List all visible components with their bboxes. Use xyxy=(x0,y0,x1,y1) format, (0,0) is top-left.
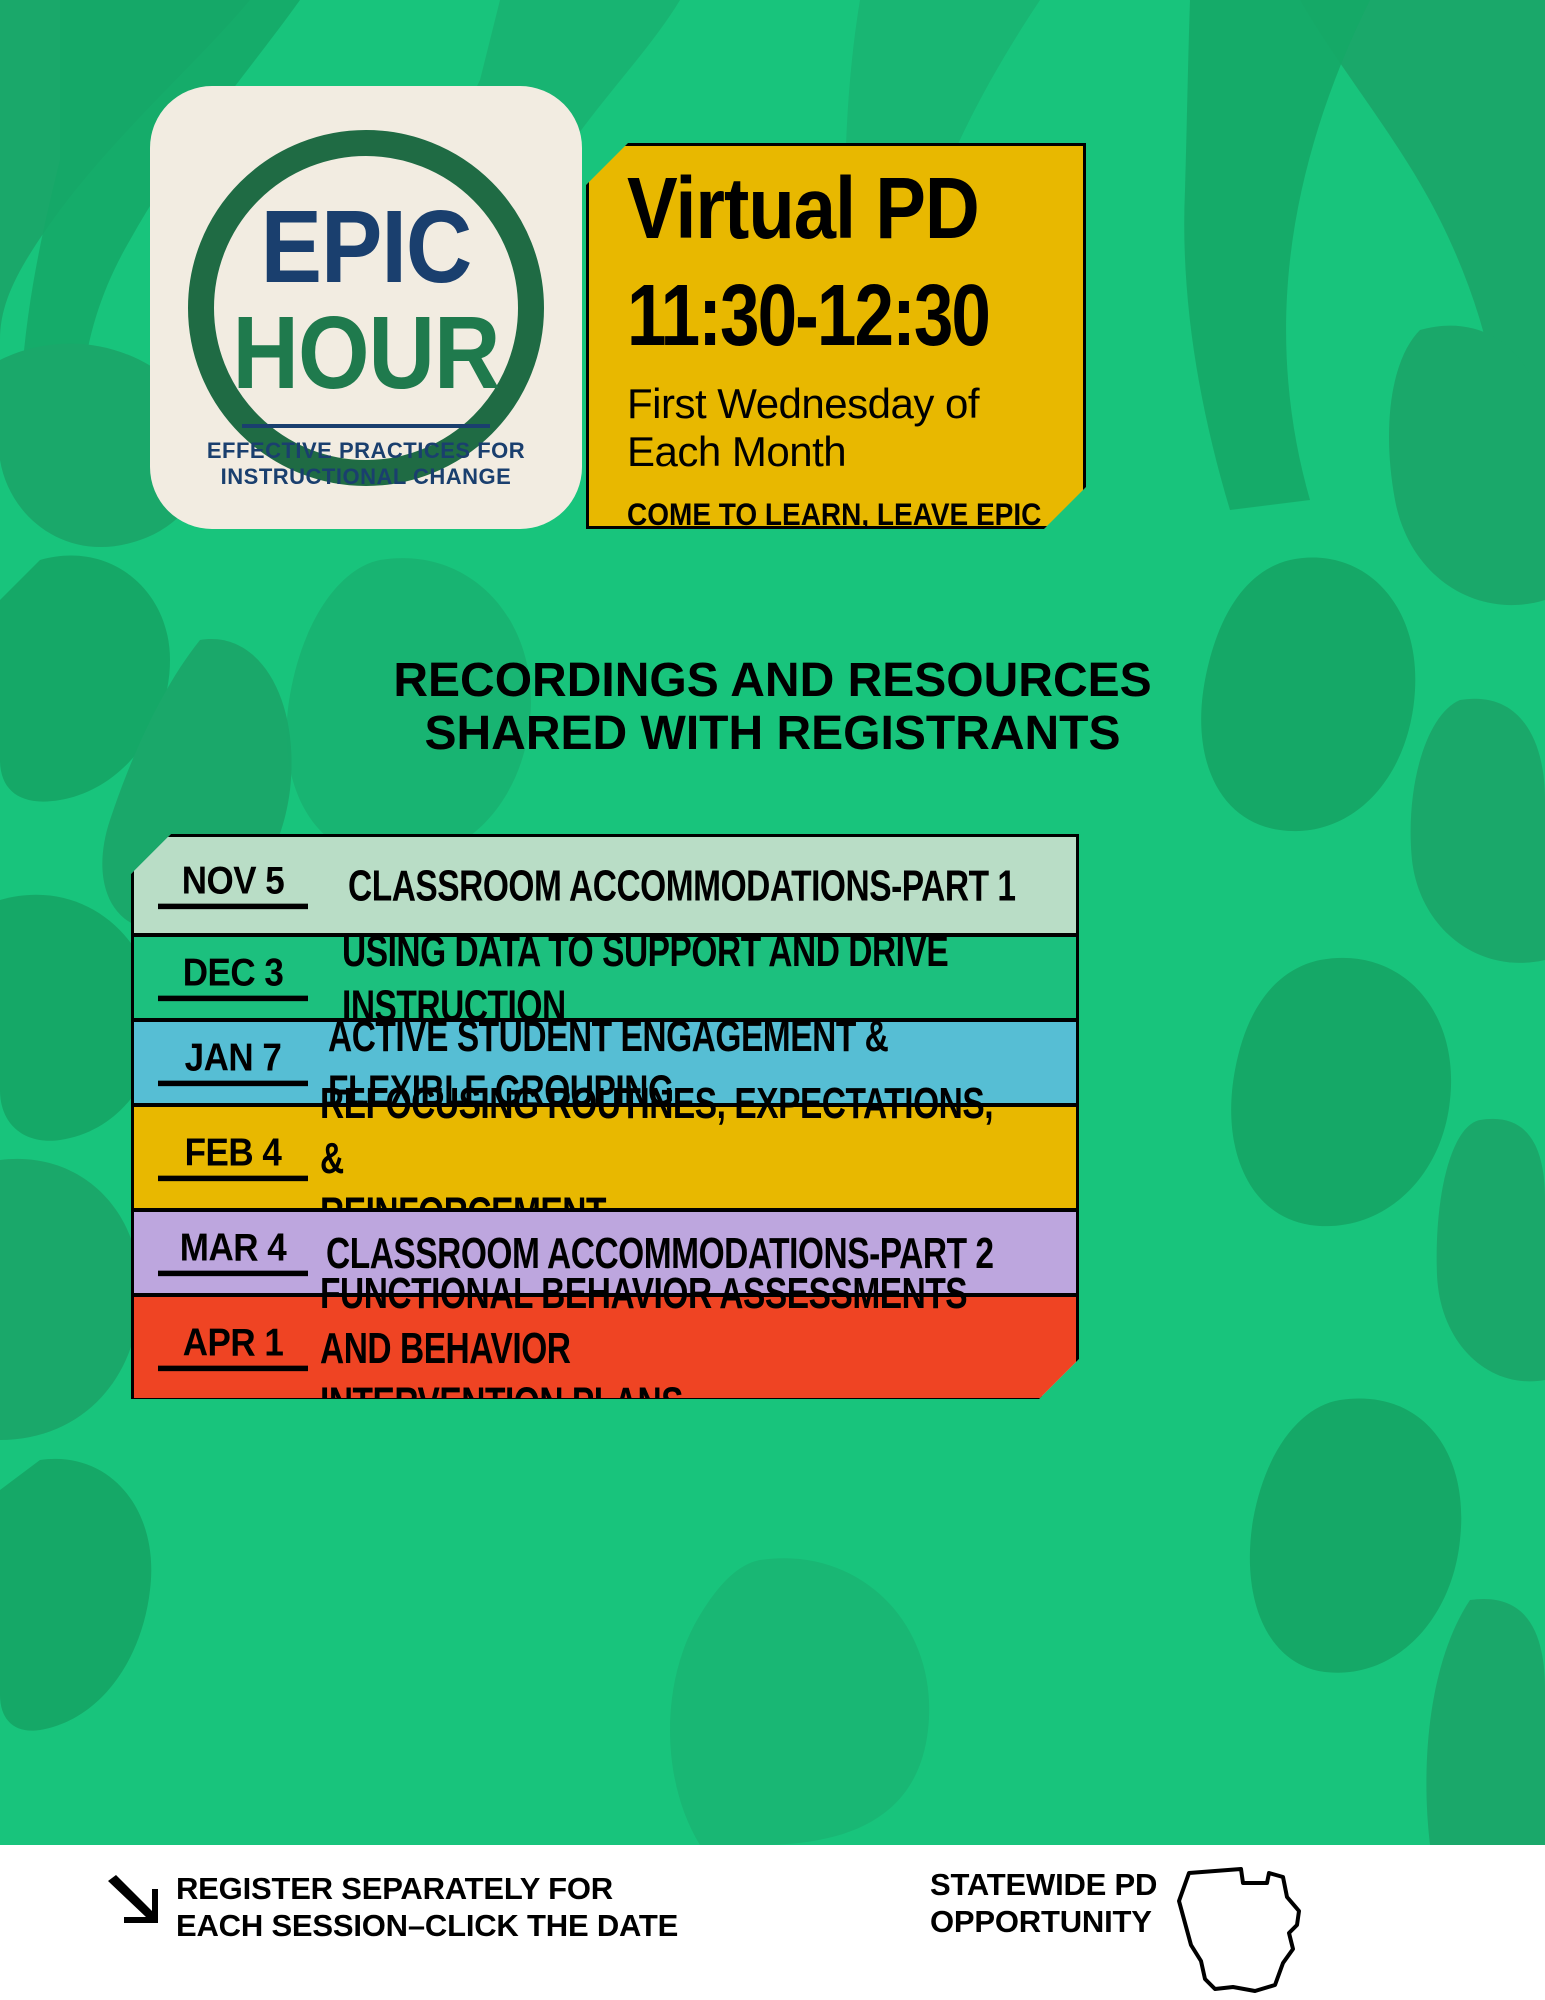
logo-divider xyxy=(242,424,490,428)
pd-slogan: COME TO LEARN, LEAVE EPIC xyxy=(627,497,1061,533)
pd-when-line1: First Wednesday of xyxy=(627,380,979,427)
footer: REGISTER SEPARATELY FOR EACH SESSION–CLI… xyxy=(0,1845,1545,2000)
pd-when-line2: Each Month xyxy=(627,428,846,475)
session-title: CLASSROOM ACCOMMODATIONS-PART 1 xyxy=(348,858,1025,913)
logo-word-hour: HOUR xyxy=(150,302,582,405)
statewide-line1: STATEWIDE PD xyxy=(930,1867,1157,1904)
statewide-note: STATEWIDE PD OPPORTUNITY xyxy=(930,1867,1311,1995)
headline-line1: RECORDINGS AND RESOURCES xyxy=(0,655,1545,708)
logo-word-epic: EPIC xyxy=(150,196,582,299)
session-date-link[interactable]: FEB 4 xyxy=(158,1134,308,1181)
virtual-pd-info-box: Virtual PD 11:30-12:30 First Wednesday o… xyxy=(586,143,1086,529)
session-date-link[interactable]: APR 1 xyxy=(158,1324,308,1371)
session-date-link[interactable]: JAN 7 xyxy=(158,1039,308,1086)
epic-hour-logo-card: EPIC HOUR EFFECTIVE PRACTICES FOR INSTRU… xyxy=(150,86,582,529)
statewide-text: STATEWIDE PD OPPORTUNITY xyxy=(930,1867,1157,1940)
arrow-down-right-icon xyxy=(100,1875,158,1933)
register-line2: EACH SESSION–CLICK THE DATE xyxy=(176,1908,678,1945)
register-text: REGISTER SEPARATELY FOR EACH SESSION–CLI… xyxy=(176,1871,678,1944)
session-schedule-list: NOV 5CLASSROOM ACCOMMODATIONS-PART 1DEC … xyxy=(131,834,1079,1399)
statewide-line2: OPPORTUNITY xyxy=(930,1904,1157,1941)
headline-line2: SHARED WITH REGISTRANTS xyxy=(0,708,1545,761)
session-row[interactable]: NOV 5CLASSROOM ACCOMMODATIONS-PART 1 xyxy=(134,837,1076,937)
session-date-link[interactable]: NOV 5 xyxy=(158,861,308,908)
page-headline: RECORDINGS AND RESOURCES SHARED WITH REG… xyxy=(0,655,1545,761)
pd-schedule-note: First Wednesday ofEach Month xyxy=(627,380,1061,474)
session-date-link[interactable]: DEC 3 xyxy=(158,954,308,1001)
logo-wordmark: EPIC HOUR EFFECTIVE PRACTICES FOR INSTRU… xyxy=(150,196,582,490)
pd-title: Virtual PD xyxy=(627,168,1061,251)
session-date-link[interactable]: MAR 4 xyxy=(158,1229,308,1276)
register-line1: REGISTER SEPARATELY FOR xyxy=(176,1871,678,1908)
register-note: REGISTER SEPARATELY FOR EACH SESSION–CLI… xyxy=(100,1871,678,1944)
poster-canvas: EPIC HOUR EFFECTIVE PRACTICES FOR INSTRU… xyxy=(0,0,1545,1845)
logo-tagline-line1: EFFECTIVE PRACTICES FOR xyxy=(150,438,582,464)
session-row[interactable]: FEB 4REFOCUSING ROUTINES, EXPECTATIONS, … xyxy=(134,1107,1076,1212)
session-row[interactable]: APR 1FUNCTIONAL BEHAVIOR ASSESSMENTS AND… xyxy=(134,1297,1076,1402)
pd-time: 11:30-12:30 xyxy=(627,274,1044,357)
missouri-state-outline-icon xyxy=(1171,1867,1311,1995)
logo-tagline-line2: INSTRUCTIONAL CHANGE xyxy=(150,464,582,490)
